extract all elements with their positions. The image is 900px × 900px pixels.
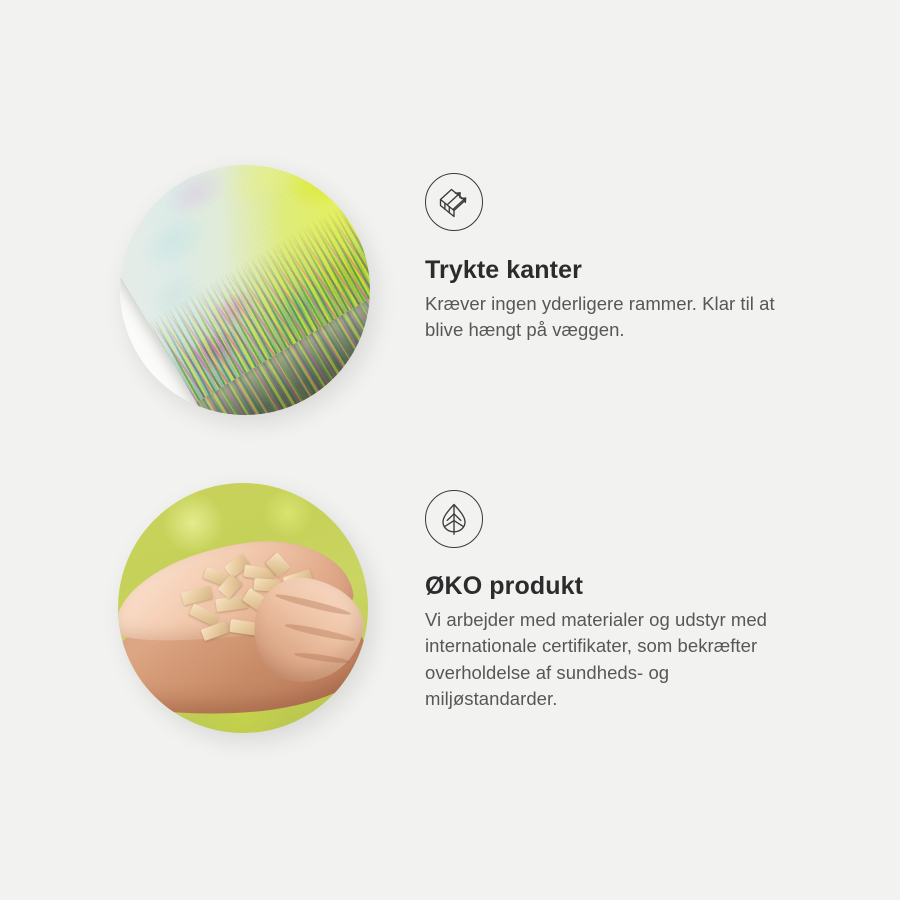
canvas-corner <box>120 165 370 415</box>
feature-info-eco-product: ØKO produkt Vi arbejder med materialer o… <box>425 490 845 713</box>
leaf-icon <box>425 490 483 548</box>
canvas-printed-edges-icon <box>425 173 483 231</box>
feature-description: Kræver ingen yderligere rammer. Klar til… <box>425 285 855 344</box>
feature-list-page: Trykte kanter Kræver ingen yderligere ra… <box>0 0 900 900</box>
canvas-photo <box>120 165 370 415</box>
feature-title: Trykte kanter <box>425 231 855 285</box>
feature-image-eco-product <box>118 483 368 733</box>
feature-info-printed-edges: Trykte kanter Kræver ingen yderligere ra… <box>425 173 855 344</box>
feature-image-printed-edges <box>120 165 370 415</box>
eco-photo <box>118 483 368 733</box>
feature-title: ØKO produkt <box>425 548 845 601</box>
feature-description: Vi arbejder med materialer og udstyr med… <box>425 601 845 713</box>
